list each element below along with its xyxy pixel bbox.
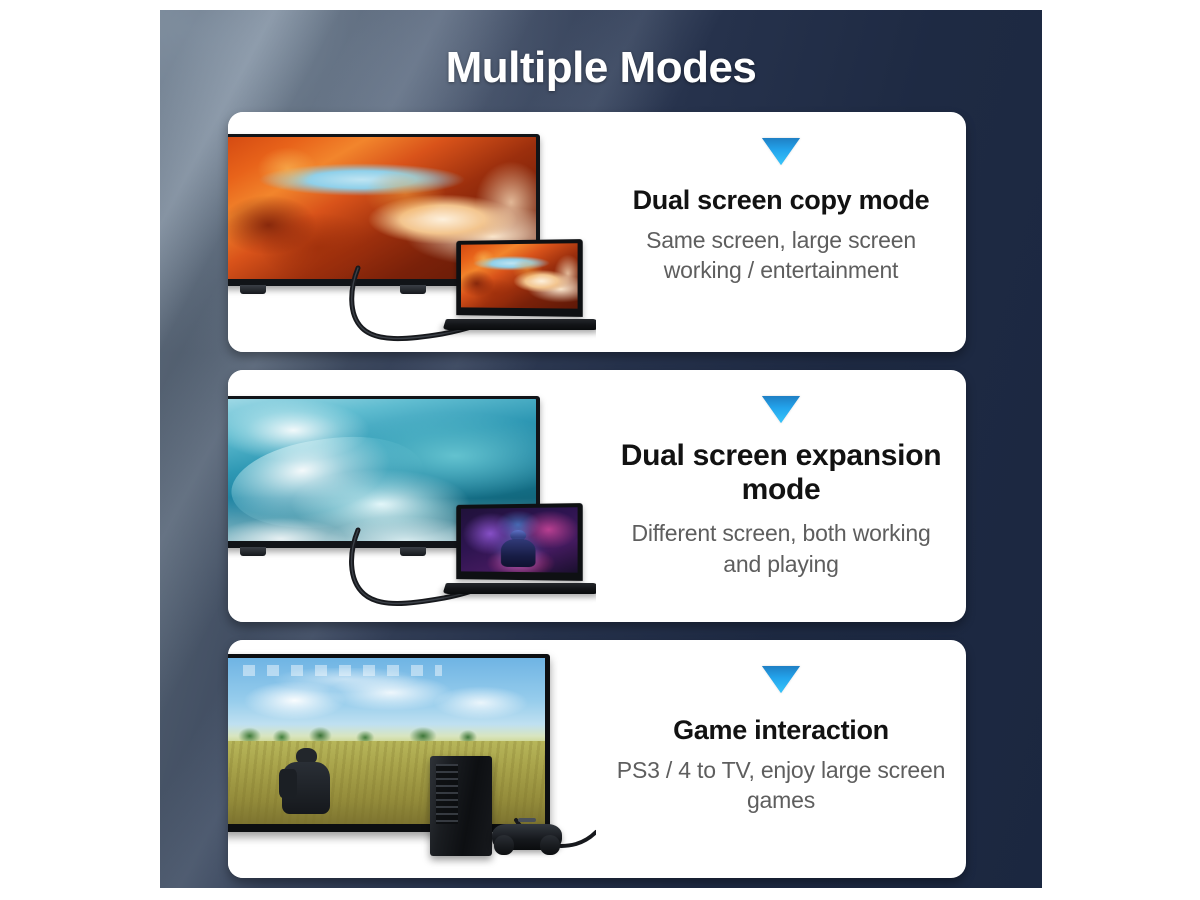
laptop-keyboard-base [442, 583, 596, 594]
feature-card-game-interaction[interactable]: Game interaction PS3 / 4 to TV, enjoy la… [228, 640, 966, 878]
card-description: PS3 / 4 to TV, enjoy large screen games [596, 755, 966, 816]
monitor-foot-right [400, 285, 426, 294]
monitor-foot-right [400, 547, 426, 556]
laptop [446, 504, 596, 600]
feature-card-dual-screen-copy[interactable]: Dual screen copy mode Same screen, large… [228, 112, 966, 352]
page-title: Multiple Modes [160, 43, 1042, 93]
game-player-character [279, 748, 334, 814]
laptop-keyboard-base [442, 319, 596, 330]
card-title: Game interaction [663, 715, 899, 746]
card-description: Different screen, both working and playi… [596, 518, 966, 579]
product-feature-page: Multiple Modes [0, 0, 1200, 900]
laptop [446, 240, 596, 336]
astronaut-figure [501, 530, 536, 567]
game-console [430, 750, 562, 856]
dark-panel: Multiple Modes [160, 10, 1042, 888]
feature-card-dual-screen-expansion[interactable]: Dual screen expansion mode Different scr… [228, 370, 966, 622]
monitor-foot-left [240, 547, 266, 556]
card-title: Dual screen copy mode [623, 185, 940, 216]
triangle-down-icon [762, 666, 800, 693]
triangle-down-icon [762, 138, 800, 165]
monitor-foot-left [240, 285, 266, 294]
game-hud-bar [243, 665, 442, 677]
game-controller [492, 816, 562, 850]
card-illustration-extended-displays [228, 370, 596, 622]
laptop-screen-nebula-image [461, 507, 578, 572]
card-title: Dual screen expansion mode [596, 439, 966, 507]
card-illustration-mirrored-displays [228, 112, 596, 352]
laptop-screen-canyon-image [461, 243, 578, 308]
ps4-console-tower [430, 756, 492, 856]
card-illustration-tv-and-console [228, 640, 596, 878]
card-description: Same screen, large screen working / ente… [596, 225, 966, 286]
triangle-down-icon [762, 396, 800, 423]
